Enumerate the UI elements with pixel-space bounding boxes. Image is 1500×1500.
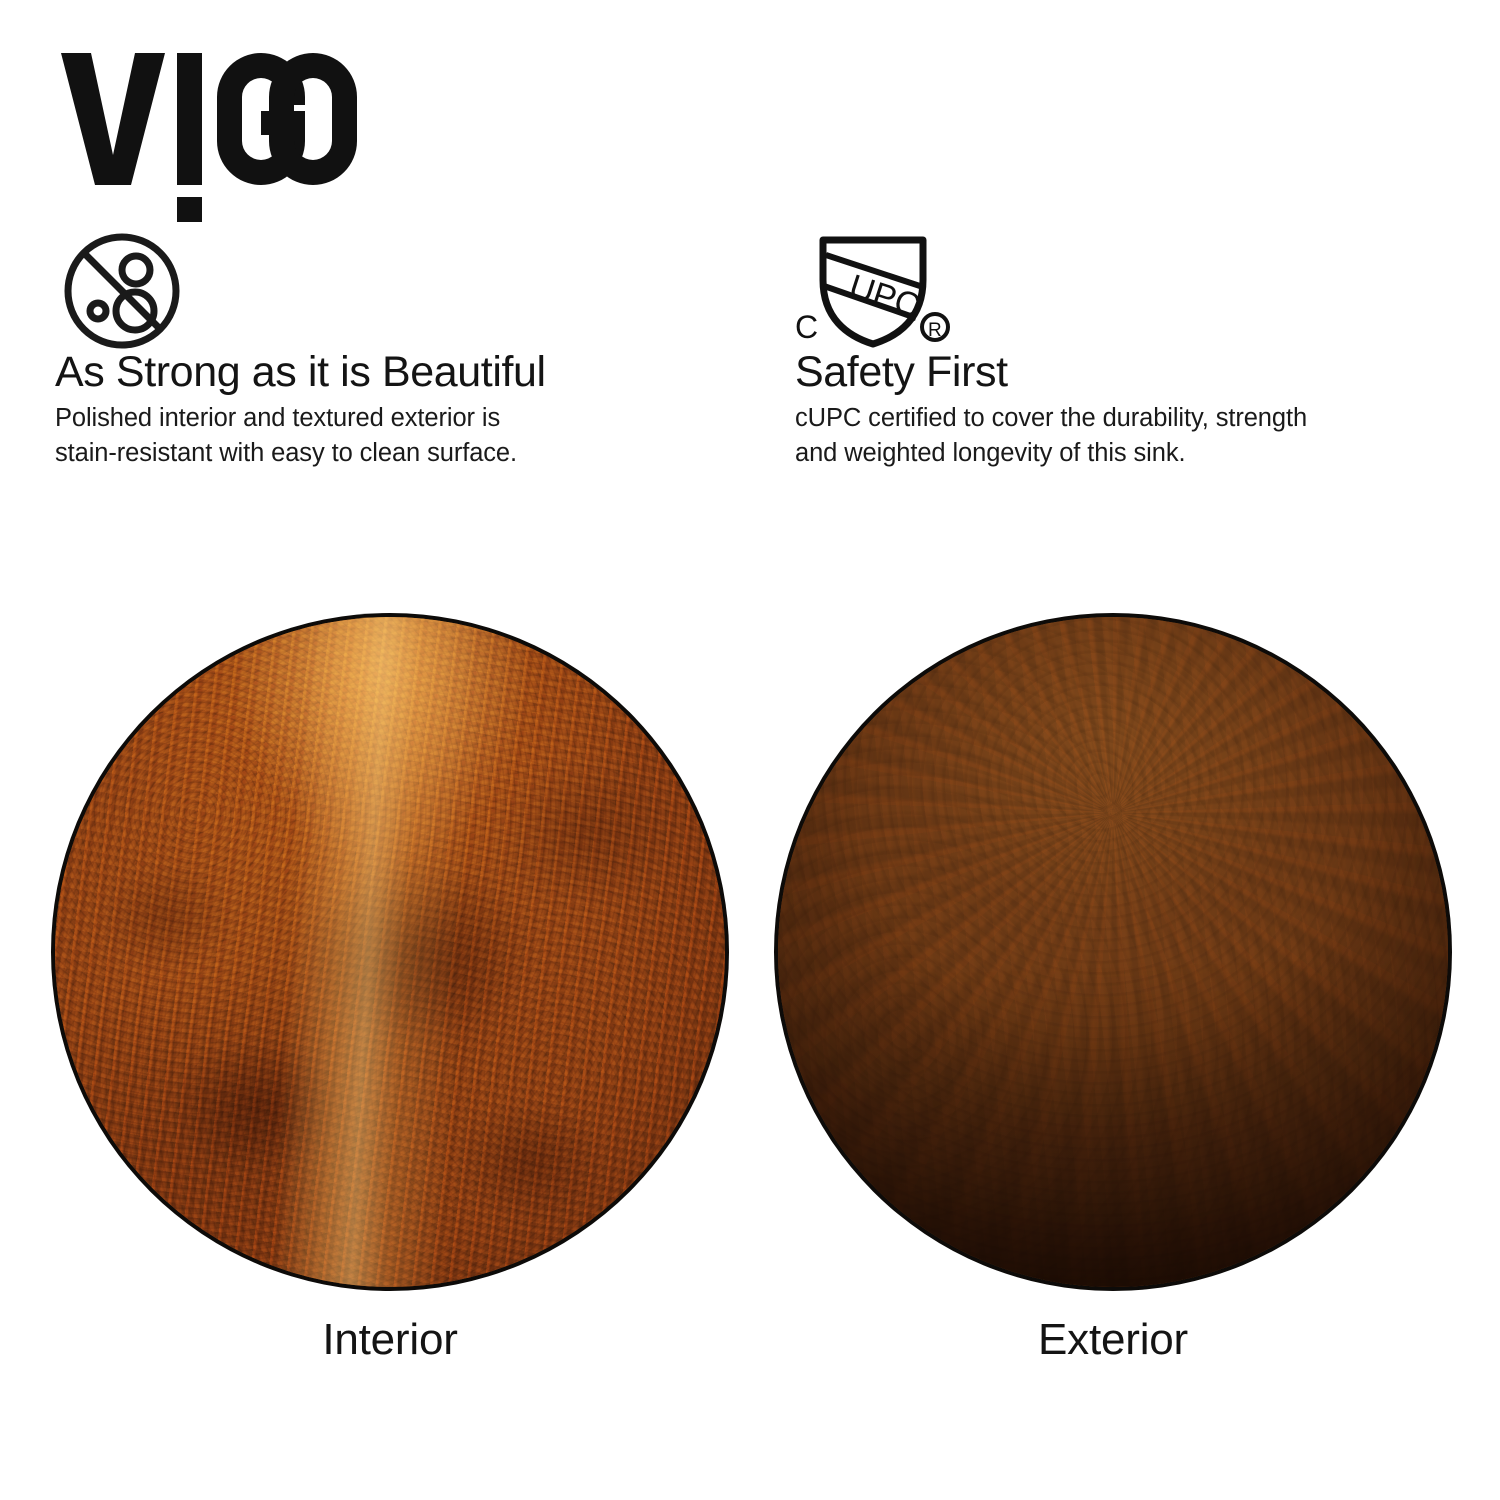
vigo-brand-logo bbox=[57, 45, 357, 225]
interior-disc bbox=[55, 617, 725, 1287]
feature-heading: As Strong as it is Beautiful bbox=[55, 350, 715, 395]
feature-body-text: Polished interior and textured exterior … bbox=[55, 401, 715, 471]
cupc-shield-certification-icon: UPC C R bbox=[795, 232, 1435, 350]
cupc-prefix-letter: C bbox=[795, 309, 818, 345]
finish-comparison-section: Interior Exterior bbox=[0, 560, 1500, 1380]
product-finish-interior: Interior bbox=[55, 560, 725, 1365]
vigo-wordmark-icon bbox=[57, 45, 357, 225]
svg-text:R: R bbox=[928, 320, 942, 341]
feature-highlights-section: As Strong as it is Beautiful Polished in… bbox=[0, 232, 1500, 502]
feature-card-strength: As Strong as it is Beautiful Polished in… bbox=[55, 232, 715, 472]
exterior-sink-image bbox=[778, 617, 1448, 1287]
feature-card-safety: UPC C R Safety First cUPC certified to c… bbox=[795, 232, 1435, 472]
product-finish-exterior: Exterior bbox=[778, 560, 1448, 1365]
registered-trademark-icon: R bbox=[922, 314, 948, 341]
exterior-caption: Exterior bbox=[778, 1287, 1448, 1365]
feature-body-text: cUPC certified to cover the durability, … bbox=[795, 401, 1435, 471]
interior-sink-image bbox=[55, 617, 725, 1287]
exterior-disc bbox=[778, 617, 1448, 1287]
no-stain-circle-icon bbox=[55, 232, 715, 350]
interior-caption: Interior bbox=[55, 1287, 725, 1365]
interior-highlight-layer bbox=[55, 617, 725, 1287]
feature-heading: Safety First bbox=[795, 350, 1435, 395]
exterior-vignette-layer bbox=[778, 617, 1448, 1287]
